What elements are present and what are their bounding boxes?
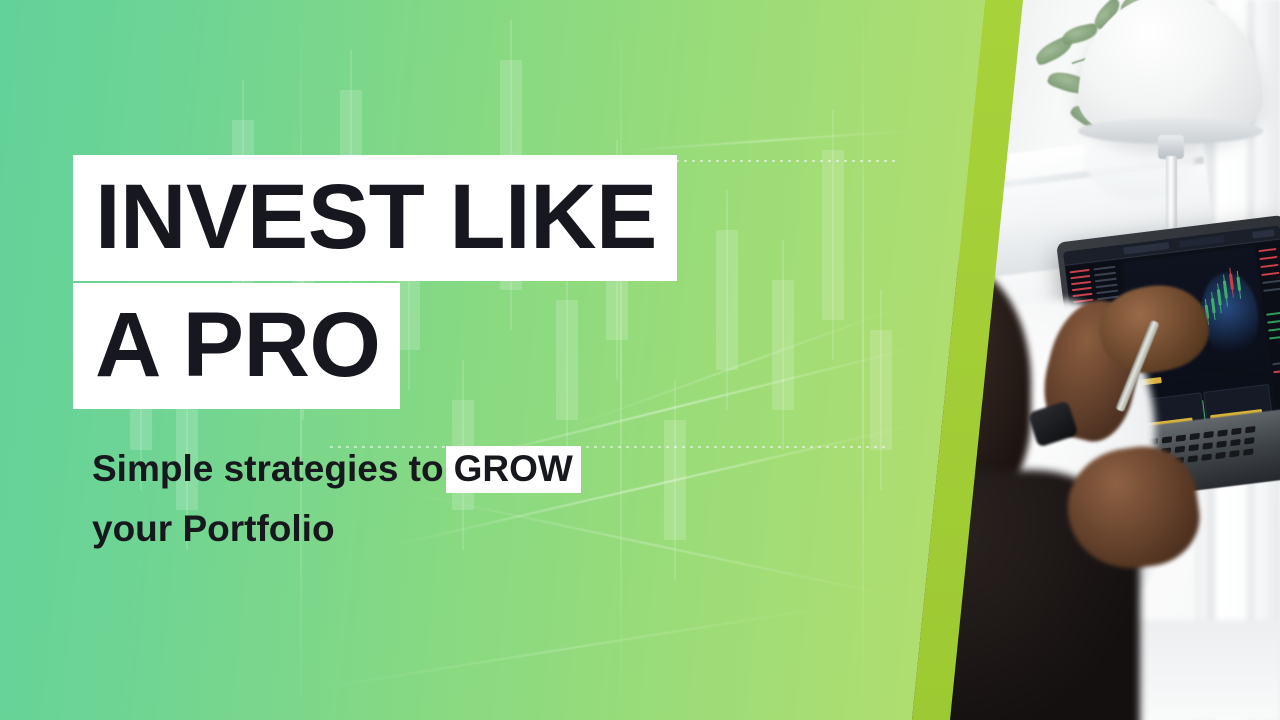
headline-line-2: A PRO: [73, 283, 400, 409]
promo-banner: INVEST LIKE A PRO Simple strategies toGR…: [0, 0, 1280, 720]
subtitle-line-1: Simple strategies toGROW: [92, 440, 581, 498]
subtitle-highlight-grow: GROW: [446, 446, 581, 493]
subtitle-line-2: your Portfolio: [92, 500, 335, 558]
subtitle-prefix: Simple strategies to: [92, 448, 444, 489]
headline-line-1: INVEST LIKE: [73, 155, 677, 281]
